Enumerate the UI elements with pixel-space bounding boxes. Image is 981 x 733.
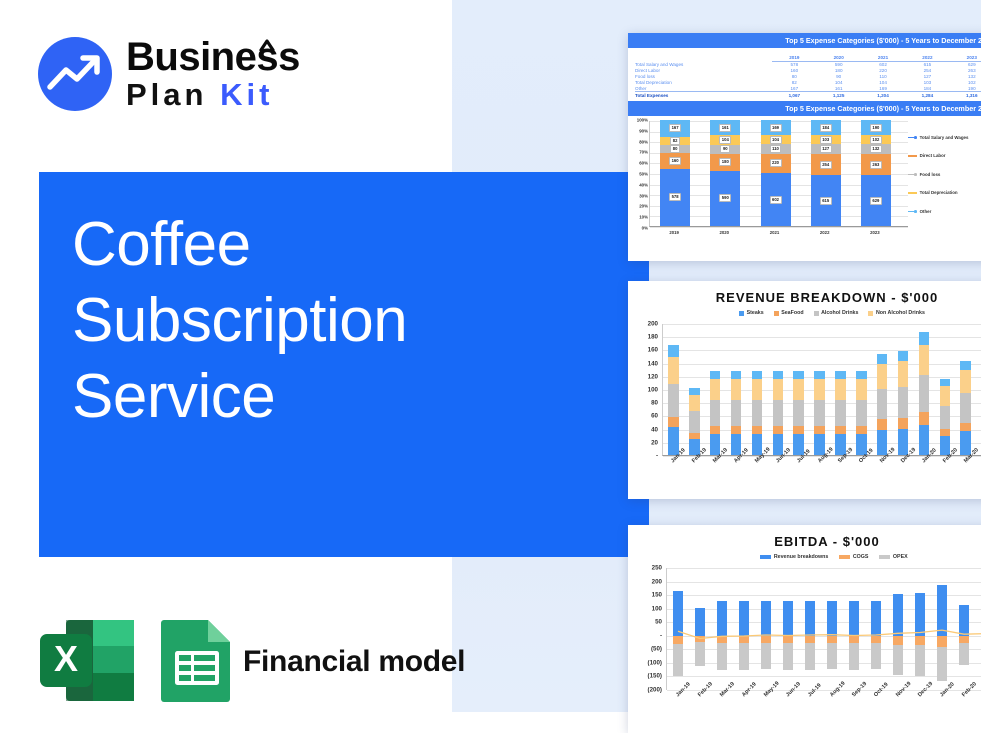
bar-segment: 602 (761, 173, 791, 226)
gridline (667, 636, 981, 637)
legend-swatch (868, 311, 873, 316)
legend-item: SeaFood (774, 310, 804, 316)
axis-label: 2022 (820, 230, 830, 235)
legend-marker (914, 173, 917, 176)
bar-segment (814, 371, 824, 379)
legend-label: Other (920, 209, 932, 214)
legend-item: Direct Labor (908, 147, 981, 166)
expense-x-axis: 20192020202120222023 (649, 230, 908, 239)
axis-tick: 100% (637, 118, 648, 123)
bar-value-label: 104 (770, 136, 782, 144)
title-line-1: Coffee (72, 207, 632, 283)
expense-total-cell: 1,125 (817, 91, 861, 98)
legend-swatch (879, 555, 890, 559)
axis-tick: 140 (638, 360, 658, 367)
bar-negative (761, 643, 772, 669)
bar-segment (752, 400, 762, 426)
bar-segment: 169 (761, 120, 791, 135)
stacked-bar (960, 361, 970, 455)
excel-icon: X (38, 618, 136, 703)
bar-segment: 263 (861, 154, 891, 175)
bar-segment: 190 (861, 120, 891, 135)
axis-tick: 200 (636, 578, 662, 585)
bar-segment (898, 351, 908, 361)
bar-segment: 615 (811, 175, 841, 226)
svg-text:X: X (54, 638, 78, 679)
bar-value-label: 102 (870, 136, 882, 144)
axis-tick: 90% (639, 128, 648, 133)
brand-logo: Business Plan Kit (38, 36, 338, 116)
stacked-bar (752, 371, 762, 455)
bar-positive (915, 593, 926, 636)
bar-value-label: 127 (820, 145, 832, 153)
bar-negative (805, 636, 816, 644)
bar-negative (783, 636, 794, 644)
bar-segment: 103 (811, 135, 841, 144)
stacked-bar: 615254127103184 (811, 120, 841, 226)
expense-chart-banner: Top 5 Expense Categories ($'000) - 5 Yea… (628, 101, 981, 116)
axis-tick: 50% (639, 172, 648, 177)
bar-segment (668, 345, 678, 356)
gridline (667, 676, 981, 677)
bar-value-label: 90 (720, 145, 730, 153)
stacked-bar: 5781608082167 (660, 120, 690, 226)
bar-segment (960, 361, 970, 370)
bar-segment (898, 418, 908, 429)
stacked-bar (731, 371, 741, 455)
bar-value-label: 167 (669, 124, 681, 132)
axis-tick: 30% (639, 193, 648, 198)
bar-positive (827, 601, 838, 635)
bar-positive (959, 605, 970, 636)
bar-value-label: 103 (820, 136, 832, 144)
axis-tick: 20% (639, 204, 648, 209)
bar-negative (739, 636, 750, 644)
ebitda-chart-title: EBITDA - $'000 (628, 525, 981, 549)
bar-segment (877, 364, 887, 389)
bar-segment (814, 400, 824, 426)
legend-marker (914, 136, 917, 139)
axis-tick: 150 (636, 592, 662, 599)
axis-tick: 70% (639, 150, 648, 155)
bar-segment (919, 375, 929, 412)
bar-segment (710, 371, 720, 379)
brand-word-kit: Kit (220, 77, 273, 112)
legend-label: Revenue breakdowns (774, 554, 828, 560)
bar-negative (739, 643, 750, 670)
expense-categories-card: Top 5 Expense Categories ($'000) - 5 Yea… (628, 33, 981, 261)
bar-segment (668, 417, 678, 428)
google-sheets-icon (158, 618, 236, 703)
gridline (667, 568, 981, 569)
bar-negative (893, 645, 904, 675)
expense-total-label: Total Expenses (635, 91, 772, 98)
bar-segment (919, 412, 929, 425)
bar-segment (856, 426, 866, 434)
axis-label: 2021 (770, 230, 780, 235)
bar-positive (673, 591, 684, 636)
axis-tick: (100) (636, 659, 662, 666)
bar-segment: 220 (761, 154, 791, 173)
axis-tick: 180 (638, 334, 658, 341)
legend-label: Non Alcohol Drinks (876, 310, 925, 316)
legend-item: Total Depreciation (908, 184, 981, 203)
bar-segment: 104 (710, 135, 740, 145)
legend-item: Revenue breakdowns (760, 554, 828, 560)
axis-tick: 50 (636, 619, 662, 626)
title-line-2: Subscription (72, 283, 632, 359)
bar-segment: 102 (861, 135, 891, 143)
bar-value-label: 82 (670, 137, 680, 145)
stacked-bar: 59018090104161 (710, 120, 740, 226)
stacked-bar: 602220110104169 (761, 120, 791, 226)
bar-value-label: 104 (719, 136, 731, 144)
legend-item: OPEX (879, 554, 907, 560)
revenue-chart-title: REVENUE BREAKDOWN - $'000 (628, 281, 981, 305)
expense-y-axis: 100%90%80%70%60%50%40%30%20%10%0% (630, 120, 648, 228)
gridline (663, 324, 981, 325)
bar-negative (959, 636, 970, 643)
bar-negative (849, 636, 860, 644)
bar-segment (856, 371, 866, 379)
stacked-bar (710, 371, 720, 455)
hero-panel: Coffee Subscription Service (39, 172, 649, 557)
axis-tick: (200) (636, 687, 662, 694)
revenue-legend: SteaksSeaFoodAlcohol DrinksNon Alcohol D… (628, 305, 981, 316)
legend-label: OPEX (893, 554, 908, 560)
bar-negative (937, 636, 948, 647)
bar-segment (919, 425, 929, 455)
bar-negative (827, 643, 838, 668)
stacked-bar (793, 371, 803, 455)
bar-negative (937, 647, 948, 681)
bar-segment (689, 388, 699, 395)
bar-segment (668, 357, 678, 384)
expense-total-cell: 1,316 (950, 91, 981, 98)
legend-swatch (814, 311, 819, 316)
bar-segment (773, 371, 783, 379)
bar-value-label: 615 (820, 197, 832, 205)
legend-label: SeaFood (781, 310, 803, 316)
legend-label: Alcohol Drinks (821, 310, 858, 316)
brand-line-business: Business (126, 36, 341, 78)
bar-negative (761, 636, 772, 644)
expense-legend: Total Salary and WagesDirect LaborFood l… (908, 128, 981, 221)
legend-label: COGS (853, 554, 869, 560)
brand-line-plan-kit: Plan Kit (126, 78, 341, 112)
bar-negative (849, 643, 860, 669)
axis-label: 2023 (870, 230, 880, 235)
bar-positive (695, 608, 706, 635)
ebitda-legend: Revenue breakdownsCOGSOPEX (628, 549, 981, 560)
bar-segment: 132 (861, 144, 891, 155)
plot-frame (662, 324, 981, 456)
axis-tick: 250 (636, 565, 662, 572)
bar-segment (960, 370, 970, 393)
bar-segment (773, 426, 783, 434)
gridline (667, 690, 981, 691)
legend-item: Alcohol Drinks (814, 310, 859, 316)
brand-word-plan: Plan (126, 77, 207, 112)
stacked-bar (835, 371, 845, 455)
bar-positive (761, 601, 772, 635)
ebitda-card: EBITDA - $'000 Revenue breakdownsCOGSOPE… (628, 525, 981, 733)
axis-tick: 80% (639, 139, 648, 144)
bar-segment (835, 400, 845, 426)
axis-tick: 40% (639, 182, 648, 187)
brand-caret-accent (259, 39, 275, 51)
axis-tick: 0% (642, 226, 648, 231)
ebitda-line-series (667, 568, 981, 690)
legend-swatch (760, 555, 771, 559)
gridline (663, 337, 981, 338)
bar-value-label: 160 (669, 157, 681, 165)
stacked-bar (919, 332, 929, 455)
bar-negative (673, 636, 684, 645)
bar-segment: 578 (660, 169, 690, 226)
bar-segment (940, 379, 950, 386)
bar-negative (673, 644, 684, 676)
bar-value-label: 184 (820, 124, 832, 132)
bar-segment (793, 371, 803, 379)
bar-segment: 590 (710, 171, 740, 227)
stacked-bar (773, 371, 783, 455)
bar-segment (835, 426, 845, 434)
stacked-bar (668, 345, 678, 455)
legend-swatch (739, 311, 744, 316)
bar-segment: 167 (660, 120, 690, 137)
bar-segment (856, 379, 866, 400)
bar-segment: 127 (811, 144, 841, 154)
gridline (667, 595, 981, 596)
ebitda-plot-area: 25020015010050-(50)(100)(150)(200)Jan-19… (628, 564, 981, 726)
axis-label: 2019 (669, 230, 679, 235)
bar-segment (731, 426, 741, 434)
brand-wordmark: Business Plan Kit (126, 36, 341, 112)
bar-negative (717, 636, 728, 644)
axis-tick: - (638, 453, 658, 460)
bar-negative (695, 642, 706, 666)
bar-negative (783, 643, 794, 669)
growth-arrow-icon (38, 37, 112, 111)
stacked-bar (856, 371, 866, 455)
legend-item: Total Salary and Wages (908, 128, 981, 147)
legend-item: Other (908, 202, 981, 221)
axis-tick: 10% (639, 215, 648, 220)
title-line-3: Service (72, 359, 632, 435)
bar-value-label: 161 (719, 124, 731, 132)
gridline (667, 582, 981, 583)
bar-value-label: 169 (770, 124, 782, 132)
format-label: Financial model (243, 645, 465, 679)
axis-label: 2020 (720, 230, 730, 235)
legend-swatch (839, 555, 850, 559)
gridline (667, 649, 981, 650)
bar-segment (919, 332, 929, 345)
bar-segment: 104 (761, 135, 791, 144)
axis-tick: 160 (638, 347, 658, 354)
bar-segment (877, 419, 887, 430)
bar-value-label: 180 (719, 158, 731, 166)
legend-swatch (774, 311, 779, 316)
legend-label: Total Depreciation (920, 190, 958, 195)
bar-segment (710, 400, 720, 426)
revenue-plot-area: -20406080100120140160180200Jan-19Feb-19M… (628, 320, 981, 499)
bar-segment (689, 395, 699, 411)
bar-segment: 110 (761, 144, 791, 154)
bar-segment: 80 (660, 145, 690, 153)
bar-segment (856, 400, 866, 426)
legend-item: Food loss (908, 165, 981, 184)
bar-positive (783, 601, 794, 635)
bar-segment (877, 389, 887, 419)
bar-positive (739, 601, 750, 635)
bar-segment: 90 (710, 145, 740, 153)
bar-value-label: 254 (820, 161, 832, 169)
expense-table: 20192020202120222023Total Salary and Wag… (628, 48, 981, 101)
bar-segment (752, 371, 762, 379)
bar-value-label: 263 (870, 161, 882, 169)
gridline (663, 364, 981, 365)
axis-tick: 120 (638, 373, 658, 380)
axis-tick: 40 (638, 426, 658, 433)
stacked-bar (898, 351, 908, 455)
axis-tick: 80 (638, 400, 658, 407)
gridline (663, 350, 981, 351)
table-row-total: Total Expenses1,0671,1251,2041,2841,316 (635, 91, 981, 98)
bar-segment: 629 (861, 175, 891, 226)
legend-label: Total Salary and Wages (920, 135, 969, 140)
axis-tick: 100 (636, 605, 662, 612)
expense-total-cell: 1,284 (905, 91, 949, 98)
expense-total-cell: 1,204 (861, 91, 905, 98)
bar-segment: 184 (811, 120, 841, 135)
bar-value-label: 602 (770, 196, 782, 204)
bar-segment (940, 386, 950, 405)
bar-segment: 180 (710, 154, 740, 171)
legend-item: Steaks (739, 310, 764, 316)
legend-marker (914, 210, 917, 213)
expense-total-cell: 1,067 (772, 91, 816, 98)
axis-tick: 60 (638, 413, 658, 420)
bar-value-label: 80 (670, 145, 680, 153)
plot-frame (666, 568, 981, 690)
bar-segment (960, 431, 970, 455)
legend-label: Food loss (920, 172, 941, 177)
bar-segment (731, 379, 741, 400)
axis-tick: 20 (638, 439, 658, 446)
expense-stacked-bar-chart: 100%90%80%70%60%50%40%30%20%10%0% 578160… (628, 116, 981, 244)
bar-segment (877, 354, 887, 364)
bar-negative (893, 636, 904, 645)
bar-segment (773, 400, 783, 426)
bar-segment (814, 379, 824, 400)
bar-value-label: 578 (669, 193, 681, 201)
bar-positive (849, 601, 860, 635)
page-title: Coffee Subscription Service (72, 207, 632, 435)
legend-item: COGS (839, 554, 868, 560)
bar-value-label: 220 (770, 159, 782, 167)
bar-segment (919, 345, 929, 375)
bar-segment (752, 426, 762, 434)
expense-plot-area: 5781608082167590180901041616022201101041… (649, 121, 908, 227)
legend-marker (914, 155, 917, 158)
bar-positive (937, 585, 948, 636)
bar-positive (871, 601, 882, 635)
bar-segment: 160 (660, 153, 690, 169)
bar-segment (814, 426, 824, 434)
stacked-bar: 629263132102190 (861, 120, 891, 226)
bar-segment (668, 384, 678, 417)
bar-segment (731, 400, 741, 426)
bar-value-label: 132 (870, 145, 882, 153)
bar-segment (898, 361, 908, 387)
stacked-bar (814, 371, 824, 455)
bar-negative (871, 643, 882, 669)
bar-segment (835, 379, 845, 400)
expense-table-banner: Top 5 Expense Categories ($'000) - 5 Yea… (628, 33, 981, 48)
bar-segment (752, 379, 762, 400)
axis-tick: - (636, 632, 662, 639)
bar-segment (668, 427, 678, 455)
bar-negative (805, 643, 816, 669)
bar-value-label: 110 (770, 145, 782, 153)
legend-label: Direct Labor (920, 153, 946, 158)
bar-segment (710, 426, 720, 434)
bar-negative (915, 645, 926, 675)
axis-tick: 60% (639, 161, 648, 166)
axis-tick: 200 (638, 321, 658, 328)
bar-segment (793, 426, 803, 434)
bar-value-label: 190 (870, 124, 882, 132)
gridline (667, 622, 981, 623)
bar-segment (940, 429, 950, 436)
bar-segment (773, 379, 783, 400)
stacked-bar (940, 379, 950, 455)
bar-segment (793, 379, 803, 400)
bar-segment (689, 411, 699, 433)
bar-negative (871, 636, 882, 644)
bar-positive (893, 594, 904, 635)
stacked-bar (877, 354, 887, 455)
legend-marker (914, 192, 917, 195)
gridline (667, 663, 981, 664)
bar-segment: 82 (660, 137, 690, 145)
bar-segment (898, 387, 908, 418)
gridline (650, 227, 908, 228)
bar-value-label: 629 (870, 197, 882, 205)
bar-segment (710, 379, 720, 400)
bar-segment (731, 371, 741, 379)
gridline (667, 609, 981, 610)
legend-item: Non Alcohol Drinks (868, 310, 924, 316)
bar-negative (915, 636, 926, 645)
bar-segment (793, 400, 803, 426)
axis-tick: (150) (636, 673, 662, 680)
bar-segment: 161 (710, 120, 740, 135)
bar-segment (835, 371, 845, 379)
bar-positive (805, 601, 816, 636)
bar-negative (717, 643, 728, 669)
axis-tick: 100 (638, 387, 658, 394)
bar-positive (717, 601, 728, 635)
stacked-bar (689, 388, 699, 455)
bar-value-label: 590 (719, 194, 731, 202)
bar-segment (960, 423, 970, 431)
bar-segment (960, 393, 970, 423)
bar-negative (827, 636, 838, 644)
bar-negative (959, 643, 970, 665)
